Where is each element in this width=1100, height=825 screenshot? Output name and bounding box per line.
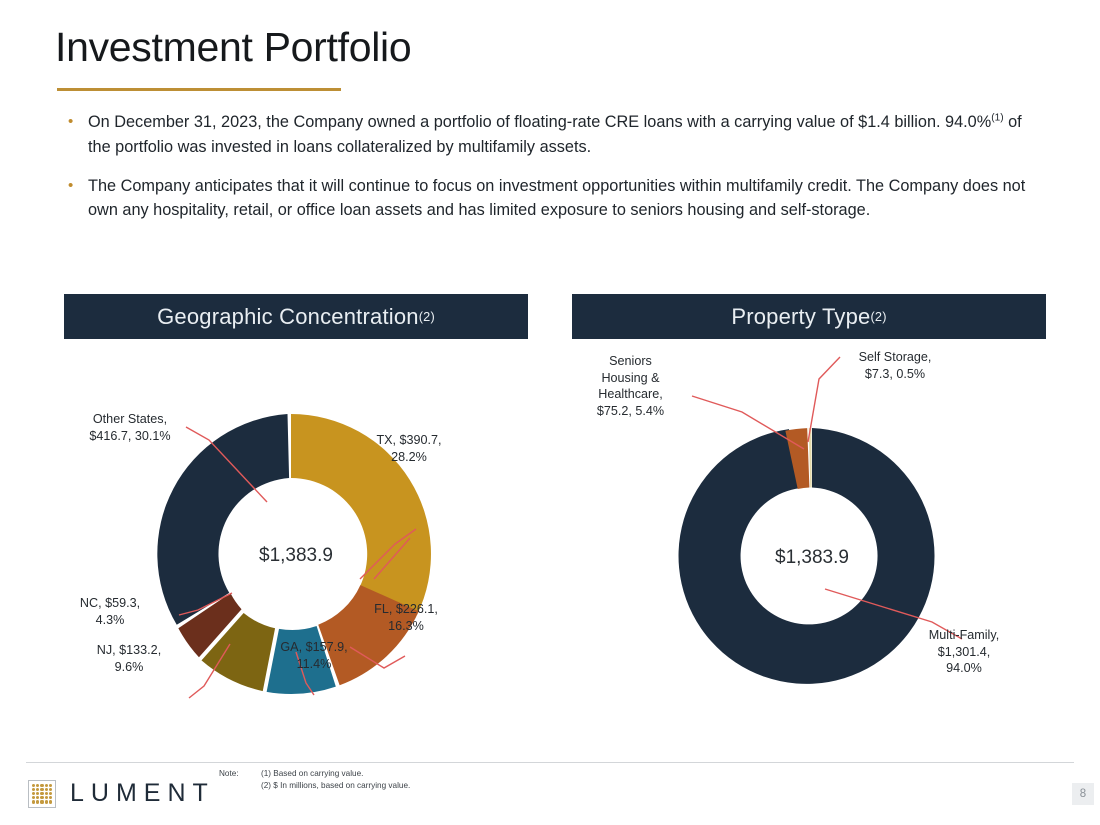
- chart-panel-property-type: Property Type(2) $1,383.9: [572, 294, 1046, 729]
- bullet-dot-icon: •: [68, 174, 73, 198]
- footer-divider: [26, 762, 1074, 763]
- footnote-marker: (1): [991, 113, 1003, 124]
- donut-center-value-geographic: $1,383.9: [259, 545, 333, 566]
- brand-logo: LUMENT: [28, 779, 215, 808]
- footnote-label: Note:: [219, 768, 261, 793]
- chart-area-geographic: $1,383.9 TX, $390.7, 28.2% Other States,…: [64, 339, 528, 729]
- footnote-item-1: (1) Based on carrying value.: [261, 768, 410, 780]
- chart-header-geographic: Geographic Concentration(2): [64, 294, 528, 339]
- chart-label-tx: TX, $390.7, 28.2%: [349, 432, 469, 465]
- slide-root: Investment Portfolio • On December 31, 2…: [0, 0, 1100, 825]
- bullet-text: The Company anticipates that it will con…: [88, 177, 1025, 220]
- logo-wordmark: LUMENT: [70, 779, 215, 808]
- chart-label-nj: NJ, $133.2, 9.6%: [69, 642, 189, 675]
- page-number-badge: 8: [1072, 783, 1094, 805]
- chart-label-nc: NC, $59.3, 4.3%: [50, 595, 170, 628]
- chart-title-geographic: Geographic Concentration: [157, 304, 419, 330]
- page-title: Investment Portfolio: [55, 24, 411, 71]
- bullet-dot-icon: •: [68, 110, 73, 134]
- title-underline-accent: [57, 88, 341, 91]
- chart-header-property-type: Property Type(2): [572, 294, 1046, 339]
- chart-label-self-storage: Self Storage, $7.3, 0.5%: [830, 349, 960, 382]
- chart-label-ga: GA, $157.9, 11.4%: [254, 639, 374, 672]
- chart-label-multi-family: Multi-Family, $1,301.4, 94.0%: [904, 627, 1024, 677]
- chart-label-fl: FL, $226.1, 16.3%: [346, 601, 466, 634]
- bullet-item: • On December 31, 2023, the Company owne…: [62, 110, 1037, 160]
- footnote-item-2: (2) $ In millions, based on carrying val…: [261, 780, 410, 792]
- bullet-text: On December 31, 2023, the Company owned …: [88, 113, 991, 131]
- chart-label-other-states: Other States, $416.7, 30.1%: [70, 411, 190, 444]
- donut-slice-other-states: [157, 414, 289, 625]
- chart-label-seniors-housing: Seniors Housing & Healthcare, $75.2, 5.4…: [578, 353, 683, 419]
- bullet-item: • The Company anticipates that it will c…: [62, 174, 1037, 224]
- chart-panel-geographic: Geographic Concentration(2): [64, 294, 528, 729]
- chart-title-property-type: Property Type: [731, 304, 870, 330]
- footnotes: Note: (1) Based on carrying value. (2) $…: [219, 768, 410, 793]
- donut-center-value-property-type: $1,383.9: [775, 547, 849, 568]
- lument-grid-mark-icon: [28, 780, 56, 808]
- bullet-list: • On December 31, 2023, the Company owne…: [62, 110, 1037, 237]
- chart-area-property-type: $1,383.9 Seniors Housing & Healthcare, $…: [572, 339, 1046, 729]
